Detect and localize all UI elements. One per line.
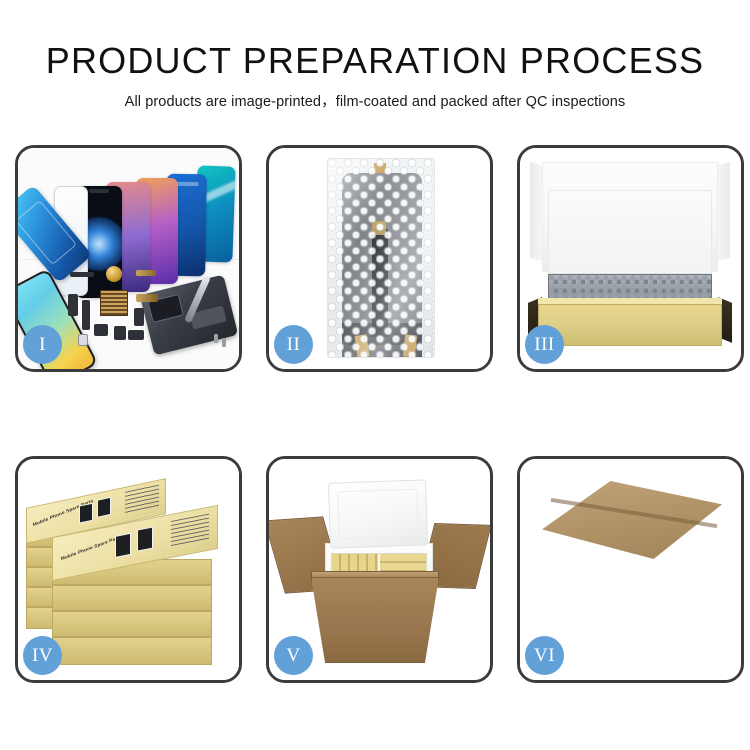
flex-cable-6: [134, 308, 144, 326]
gold-coin-part: [106, 266, 122, 282]
carton-body: [311, 577, 439, 663]
panel-badge-4: IV: [23, 636, 62, 675]
flex-cable-4: [82, 300, 90, 330]
front-box-thumb-1: [115, 533, 131, 558]
panel-carton-open: V: [266, 456, 493, 683]
stack-front-layer-2: [52, 585, 212, 611]
bubble-wrap-bag: [327, 158, 435, 358]
panel-badge-1: I: [23, 325, 62, 364]
small-part-10: [128, 330, 144, 340]
screw-1: [214, 334, 218, 343]
page-subtitle: All products are image-printed，film-coat…: [0, 90, 750, 111]
panel-carton-sealed: VI: [517, 456, 744, 683]
bubble-sheen: [328, 159, 434, 357]
front-box-thumb-2: [137, 527, 153, 552]
yellow-box-front: [538, 304, 722, 346]
stack-front-layer-3: [52, 611, 212, 637]
page-title: PRODUCT PREPARATION PROCESS: [0, 42, 750, 80]
panel-inner-box: III: [517, 145, 744, 372]
panel-phone-parts: I: [15, 145, 242, 372]
styrofoam-cooler-lid: [328, 479, 428, 548]
flex-cable-2: [136, 270, 156, 276]
front-box-label: Mobile Phone Spare Parts: [61, 534, 122, 561]
preparation-process-infographic: PRODUCT PREPARATION PROCESS All products…: [0, 0, 750, 750]
stack-front-layer-4: [52, 637, 212, 665]
panel-badge-5: V: [274, 636, 313, 675]
small-part-7: [94, 324, 108, 336]
panel-grid: I II: [15, 145, 737, 683]
white-foam-pad: [548, 190, 712, 274]
phone-notch: [89, 189, 109, 193]
panel-badge-2: II: [274, 325, 313, 364]
flex-cable-3: [68, 294, 78, 316]
screw-2: [222, 338, 226, 347]
front-box-text-lines: [171, 514, 209, 547]
rear-box-text-lines: [125, 485, 159, 514]
panel-badge-6: VI: [525, 636, 564, 675]
header: PRODUCT PREPARATION PROCESS All products…: [0, 0, 750, 111]
flex-cable-5: [136, 294, 158, 302]
rear-box-thumb-2: [97, 497, 111, 518]
small-part-9: [78, 334, 88, 346]
rear-box-thumb-1: [79, 503, 93, 524]
chip-contact-grid: [100, 290, 128, 316]
panel-badge-3: III: [525, 325, 564, 364]
panel-bubble-wrap: II: [266, 145, 493, 372]
flex-cable-1: [70, 272, 94, 277]
panel-box-stack: Mobile Phone Spare Parts Mobile Phone Sp…: [15, 456, 242, 683]
small-part-8: [114, 326, 126, 340]
